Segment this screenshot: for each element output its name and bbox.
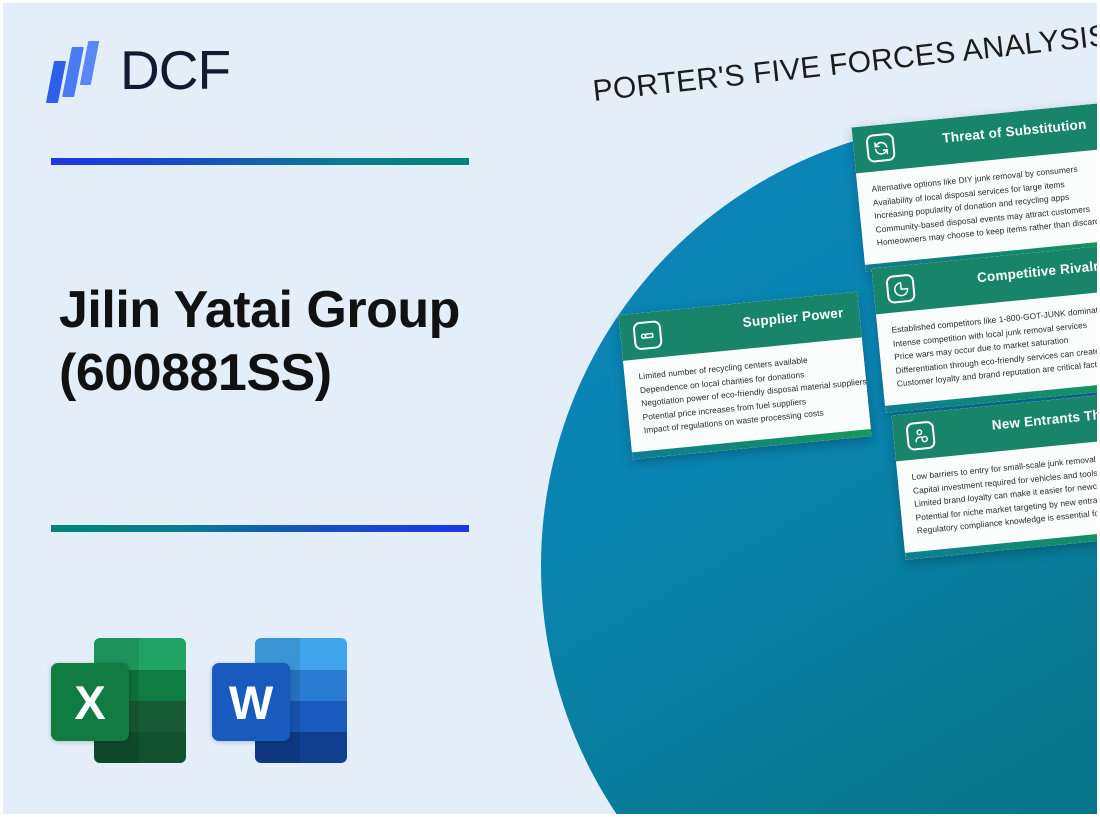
brand-logo[interactable]: DCF	[48, 41, 230, 103]
pie-chart-icon	[885, 274, 916, 305]
page-root: DCF Jilin Yatai Group (600881SS) X	[0, 0, 1100, 817]
card-competitive-rivalry[interactable]: Competitive Rivalry Established competit…	[872, 244, 1100, 413]
porters-five-forces-infographic: PORTER'S FIVE FORCES ANALYSIS Threat of …	[473, 3, 1100, 817]
card-title: Competitive Rivalry	[976, 258, 1100, 286]
word-icon[interactable]: W	[212, 638, 347, 763]
logo-wordmark: DCF	[120, 43, 230, 102]
excel-letter-tile: X	[51, 663, 129, 741]
logo-bar-middle	[62, 47, 84, 97]
divider-bottom	[51, 525, 469, 532]
card-title: Threat of Substitution	[942, 117, 1087, 146]
divider-top	[51, 158, 469, 165]
person-badge-icon	[905, 421, 936, 452]
infographic-heading: PORTER'S FIVE FORCES ANALYSIS	[591, 18, 1100, 109]
card-new-entrants-threat[interactable]: New Entrants Threat Low barriers to entr…	[892, 391, 1100, 560]
office-format-icons: X W	[51, 638, 347, 763]
card-threat-of-substitution[interactable]: Threat of Substitution Alternative optio…	[852, 103, 1100, 272]
page-title-ticker: (600881SS)	[59, 342, 529, 405]
refresh-cycle-icon	[865, 133, 896, 164]
excel-icon[interactable]: X	[51, 638, 186, 763]
card-title: New Entrants Threat	[991, 405, 1100, 433]
three-bars-logo-icon	[48, 41, 106, 103]
page-title-company: Jilin Yatai Group	[59, 279, 529, 342]
dumbbell-link-icon	[632, 320, 663, 351]
card-title: Supplier Power	[742, 305, 844, 330]
card-supplier-power[interactable]: Supplier Power Limited number of recycli…	[618, 292, 871, 460]
word-letter-tile: W	[212, 663, 290, 741]
page-title: Jilin Yatai Group (600881SS)	[59, 279, 529, 406]
